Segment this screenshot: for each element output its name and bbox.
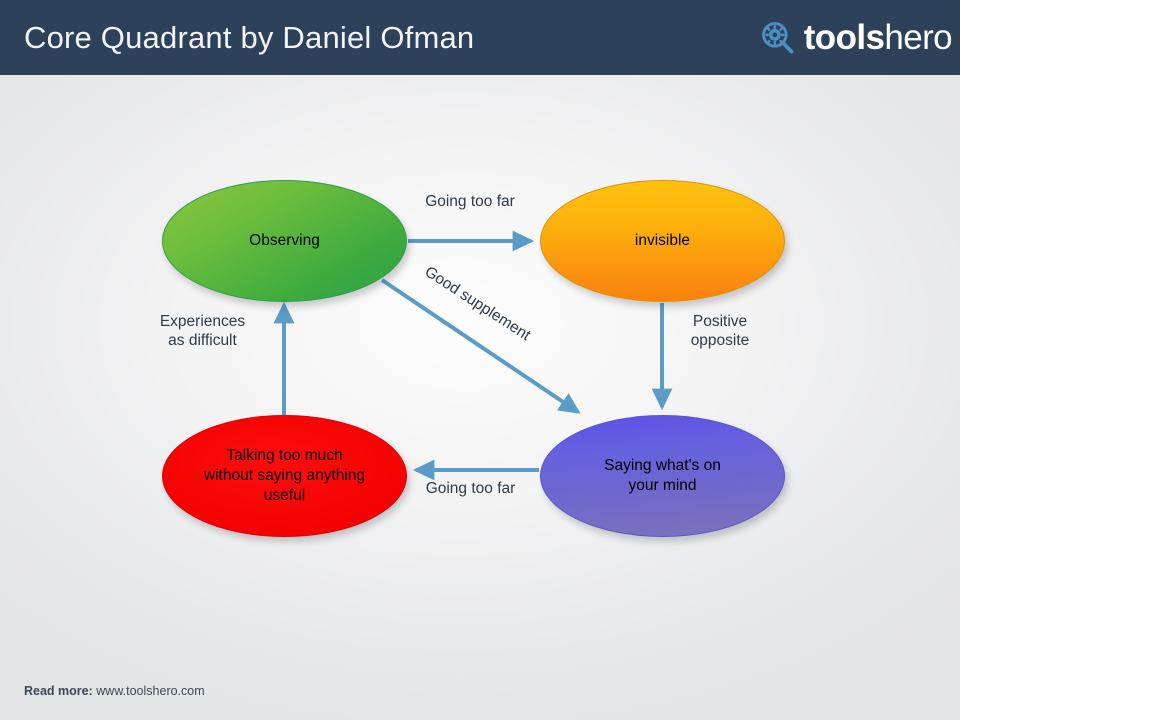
logo-word-hero: hero xyxy=(884,18,952,57)
logo-word-tools: tools xyxy=(804,18,885,57)
node-pitfall-label: invisible xyxy=(617,231,708,251)
toolshero-url[interactable]: www.toolshero.com xyxy=(96,684,204,698)
footer-read-more: Read more: www.toolshero.com xyxy=(24,684,205,698)
node-allergy[interactable]: Talking too much without saying anything… xyxy=(162,415,407,537)
edge-label-core-to-pitfall: Going too far xyxy=(400,193,540,212)
node-core-quality-label: Observing xyxy=(231,231,338,251)
node-allergy-label: Talking too much without saying anything… xyxy=(186,446,383,505)
diagram-arrows xyxy=(0,75,960,675)
slide-canvas: Core Quadrant by Daniel Ofman xyxy=(0,0,960,720)
node-challenge-label: Saying what's on your mind xyxy=(586,456,739,496)
edge-label-allergy-to-core: Experiences as difficult xyxy=(140,313,265,351)
read-more-label: Read more: xyxy=(24,684,93,698)
page-title: Core Quadrant by Daniel Ofman xyxy=(24,0,474,75)
toolshero-logo: toolshero xyxy=(760,0,952,75)
node-core-quality[interactable]: Observing xyxy=(162,180,407,302)
logo-wordmark: toolshero xyxy=(804,20,952,55)
magnifier-gear-icon xyxy=(760,20,796,56)
core-quadrant-diagram: Observing invisible Talking too much wit… xyxy=(0,75,960,675)
node-pitfall[interactable]: invisible xyxy=(540,180,785,302)
slide-header: Core Quadrant by Daniel Ofman xyxy=(0,0,960,75)
node-challenge[interactable]: Saying what's on your mind xyxy=(540,415,785,537)
edge-label-challenge-to-allergy: Going too far xyxy=(398,480,543,499)
edge-label-pitfall-to-challenge: Positive opposite xyxy=(655,313,785,351)
